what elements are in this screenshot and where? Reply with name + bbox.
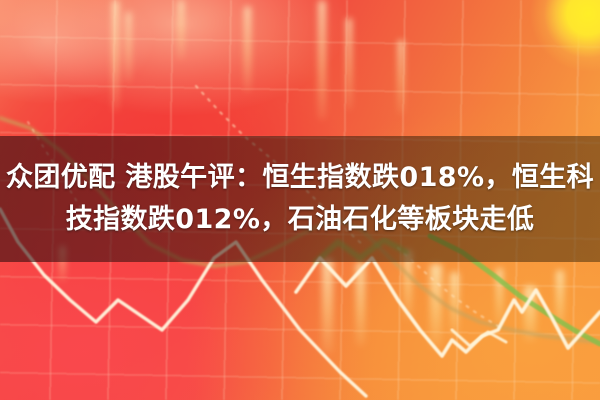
headline-line-1: 众团优配 港股午评：恒生指数跌018%，恒生科	[6, 158, 594, 198]
news-thumbnail-image: 众团优配 港股午评：恒生指数跌018%，恒生科 技指数跌012%，石油石化等板块…	[0, 0, 600, 400]
chart-line-white-bottom-fragment	[452, 330, 506, 346]
headline-band: 众团优配 港股午评：恒生指数跌018%，恒生科 技指数跌012%，石油石化等板块…	[0, 136, 600, 262]
headline-line-2: 技指数跌012%，石油石化等板块走低	[66, 200, 535, 240]
